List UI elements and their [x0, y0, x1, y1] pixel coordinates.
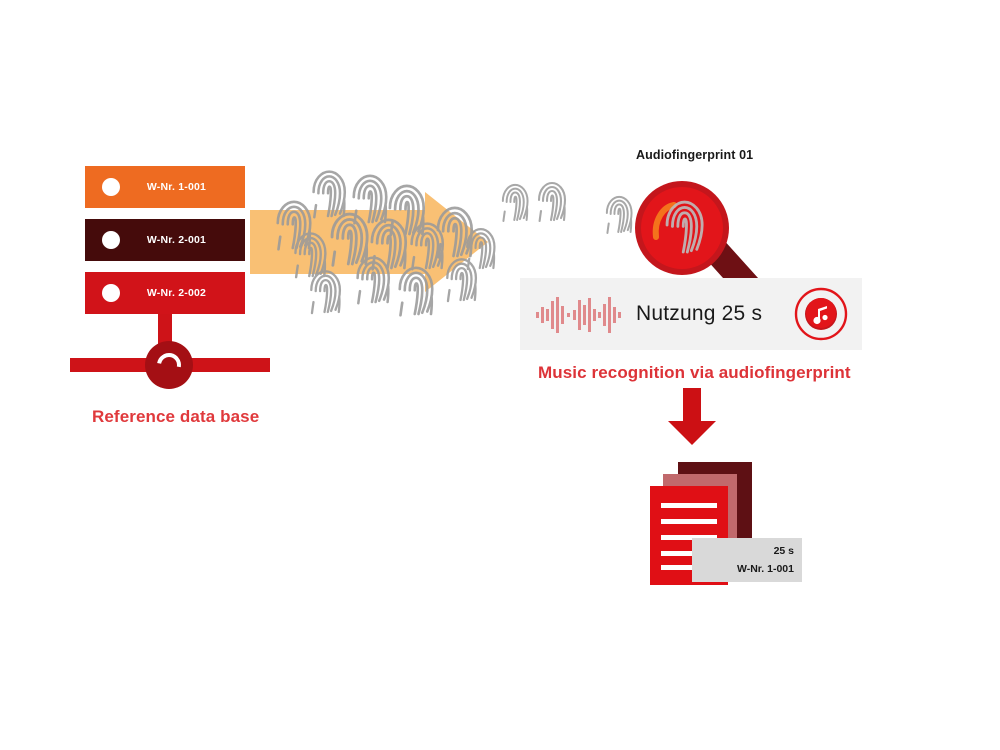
database-bar-label: W-Nr. 2-001 [120, 234, 245, 246]
recognition-caption: Music recognition via audiofingerprint [538, 363, 851, 383]
audio-waveform-icon [536, 296, 622, 334]
result-info-box: 25 s W-Nr. 1-001 [692, 538, 802, 582]
usage-duration-text: Nutzung 25 s [636, 302, 762, 326]
usage-panel: Nutzung 25 s [520, 278, 862, 350]
fingerprint-cloud [268, 168, 498, 343]
page-title: Audiofingerprint 01 [636, 148, 753, 162]
down-arrow-icon [666, 388, 718, 446]
diagram-canvas: W-Nr. 1-001 W-Nr. 2-001 W-Nr. 2-002 Refe… [0, 0, 1000, 750]
status-dot-icon [102, 178, 120, 196]
database-bar-2[interactable]: W-Nr. 2-001 [85, 219, 245, 261]
status-dot-icon [102, 231, 120, 249]
database-bar-3[interactable]: W-Nr. 2-002 [85, 272, 245, 314]
database-bar-1[interactable]: W-Nr. 1-001 [85, 166, 245, 208]
fingerprint-trail [498, 178, 648, 248]
status-dot-icon [102, 284, 120, 302]
database-bar-label: W-Nr. 2-002 [120, 287, 245, 299]
reference-database-caption: Reference data base [92, 407, 259, 427]
music-note-icon[interactable] [793, 286, 849, 342]
database-bar-label: W-Nr. 1-001 [120, 181, 245, 193]
result-duration: 25 s [692, 542, 794, 560]
result-work-number: W-Nr. 1-001 [692, 560, 794, 578]
document-text-line [661, 519, 717, 524]
document-text-line [661, 503, 717, 508]
